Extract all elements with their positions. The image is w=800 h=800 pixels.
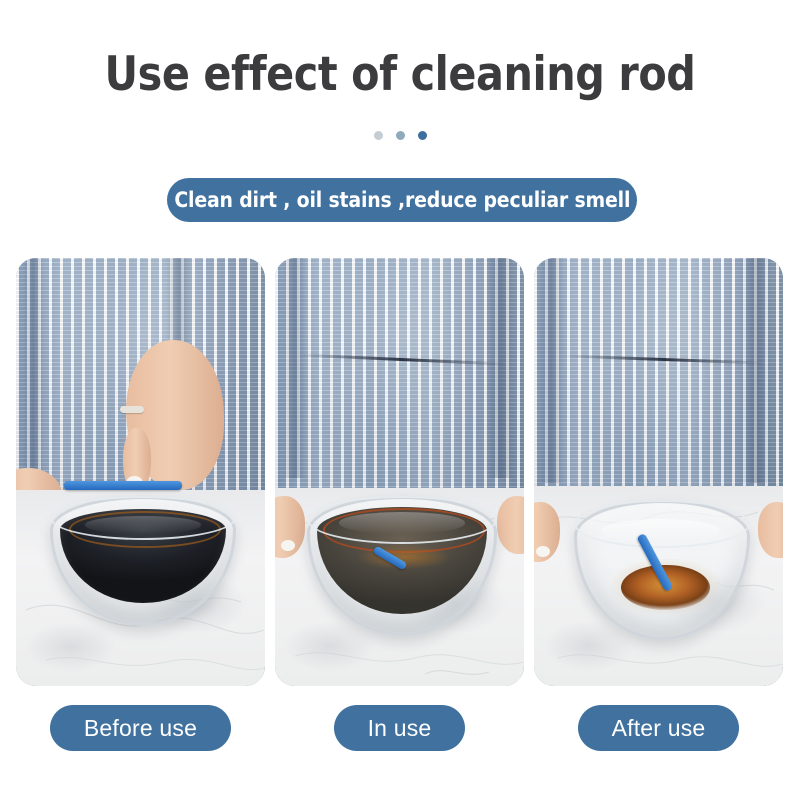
subtitle-banner-label: Clean dirt , oil stains ,reduce peculiar… (174, 188, 630, 212)
caption-pill-in-use[interactable]: In use (334, 705, 466, 751)
bowl-rim (307, 496, 497, 544)
caption-cell-in-use: In use (275, 704, 524, 752)
pager-dots (0, 131, 800, 140)
glass-bowl-before (50, 496, 236, 626)
caption-pill-before[interactable]: Before use (50, 705, 231, 751)
apron-fold (538, 258, 564, 483)
apron-fold (22, 258, 44, 493)
fingernail (536, 546, 550, 557)
page-title: Use effect of cleaning rod (48, 46, 752, 104)
photo-panel-in-use[interactable] (275, 258, 524, 686)
caption-row: Before use In use After use (16, 704, 784, 752)
apron-fold (283, 258, 307, 478)
cleaning-rod-before (64, 481, 182, 490)
caption-label-in-use: In use (368, 715, 432, 742)
caption-label-before: Before use (84, 715, 197, 742)
bowl-rim (574, 500, 750, 548)
comparison-panels (16, 258, 784, 686)
caption-cell-before: Before use (16, 704, 265, 752)
ring (120, 406, 144, 413)
photo-panel-after[interactable] (534, 258, 783, 686)
fingernail (281, 540, 295, 551)
pager-dot-2 (396, 131, 405, 140)
pager-dot-1 (374, 131, 383, 140)
pager-dot-3 (418, 131, 427, 140)
photo-panel-before[interactable] (16, 258, 265, 686)
caption-cell-after: After use (534, 704, 783, 752)
subtitle-banner: Clean dirt , oil stains ,reduce peculiar… (167, 178, 637, 222)
apron-fold (485, 258, 515, 478)
bowl-rim (50, 496, 236, 540)
apron-fold (740, 258, 772, 483)
caption-pill-after[interactable]: After use (578, 705, 740, 751)
caption-label-after: After use (612, 715, 706, 742)
